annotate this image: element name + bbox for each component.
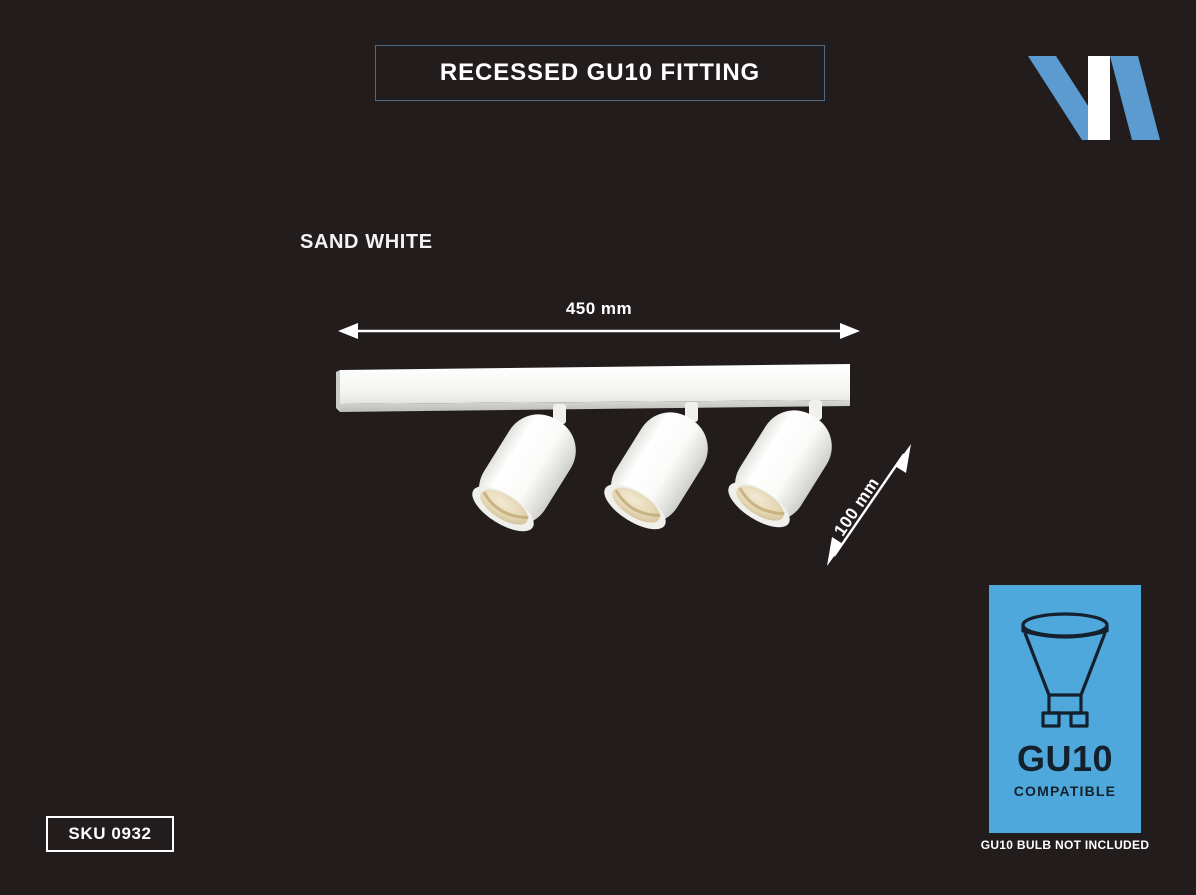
gu10-bulb-icon: [1013, 609, 1117, 731]
width-dimension-label: 450 mm: [340, 299, 858, 319]
recessed-gu10-fitting-illustration: [330, 352, 890, 572]
brand-logo: [1026, 38, 1162, 142]
gu10-compatible-label: COMPATIBLE: [1014, 783, 1116, 799]
gu10-bulb-note: GU10 BULB NOT INCLUDED: [975, 838, 1155, 852]
page-title-box: RECESSED GU10 FITTING: [375, 45, 825, 101]
double-arrow-horizontal-icon: [336, 318, 862, 344]
product-spec-sheet: RECESSED GU10 FITTING SAND WHITE 450 mm …: [0, 0, 1196, 895]
colour-name-label: SAND WHITE: [300, 231, 433, 254]
width-dimension-arrow: [336, 318, 862, 344]
spotlight-head: [721, 398, 845, 537]
gu10-code-label: GU10: [1017, 741, 1113, 777]
spotlight-head: [597, 400, 721, 539]
spotlight-head: [465, 402, 589, 541]
product-image: [330, 352, 890, 572]
page-title: RECESSED GU10 FITTING: [440, 59, 760, 87]
brand-logo-mark: [1026, 38, 1162, 142]
sku-box: SKU 0932: [46, 816, 174, 852]
gu10-compatible-badge: GU10 COMPATIBLE: [989, 585, 1141, 833]
mounting-rail: [336, 364, 850, 412]
sku-label: SKU 0932: [68, 824, 151, 844]
